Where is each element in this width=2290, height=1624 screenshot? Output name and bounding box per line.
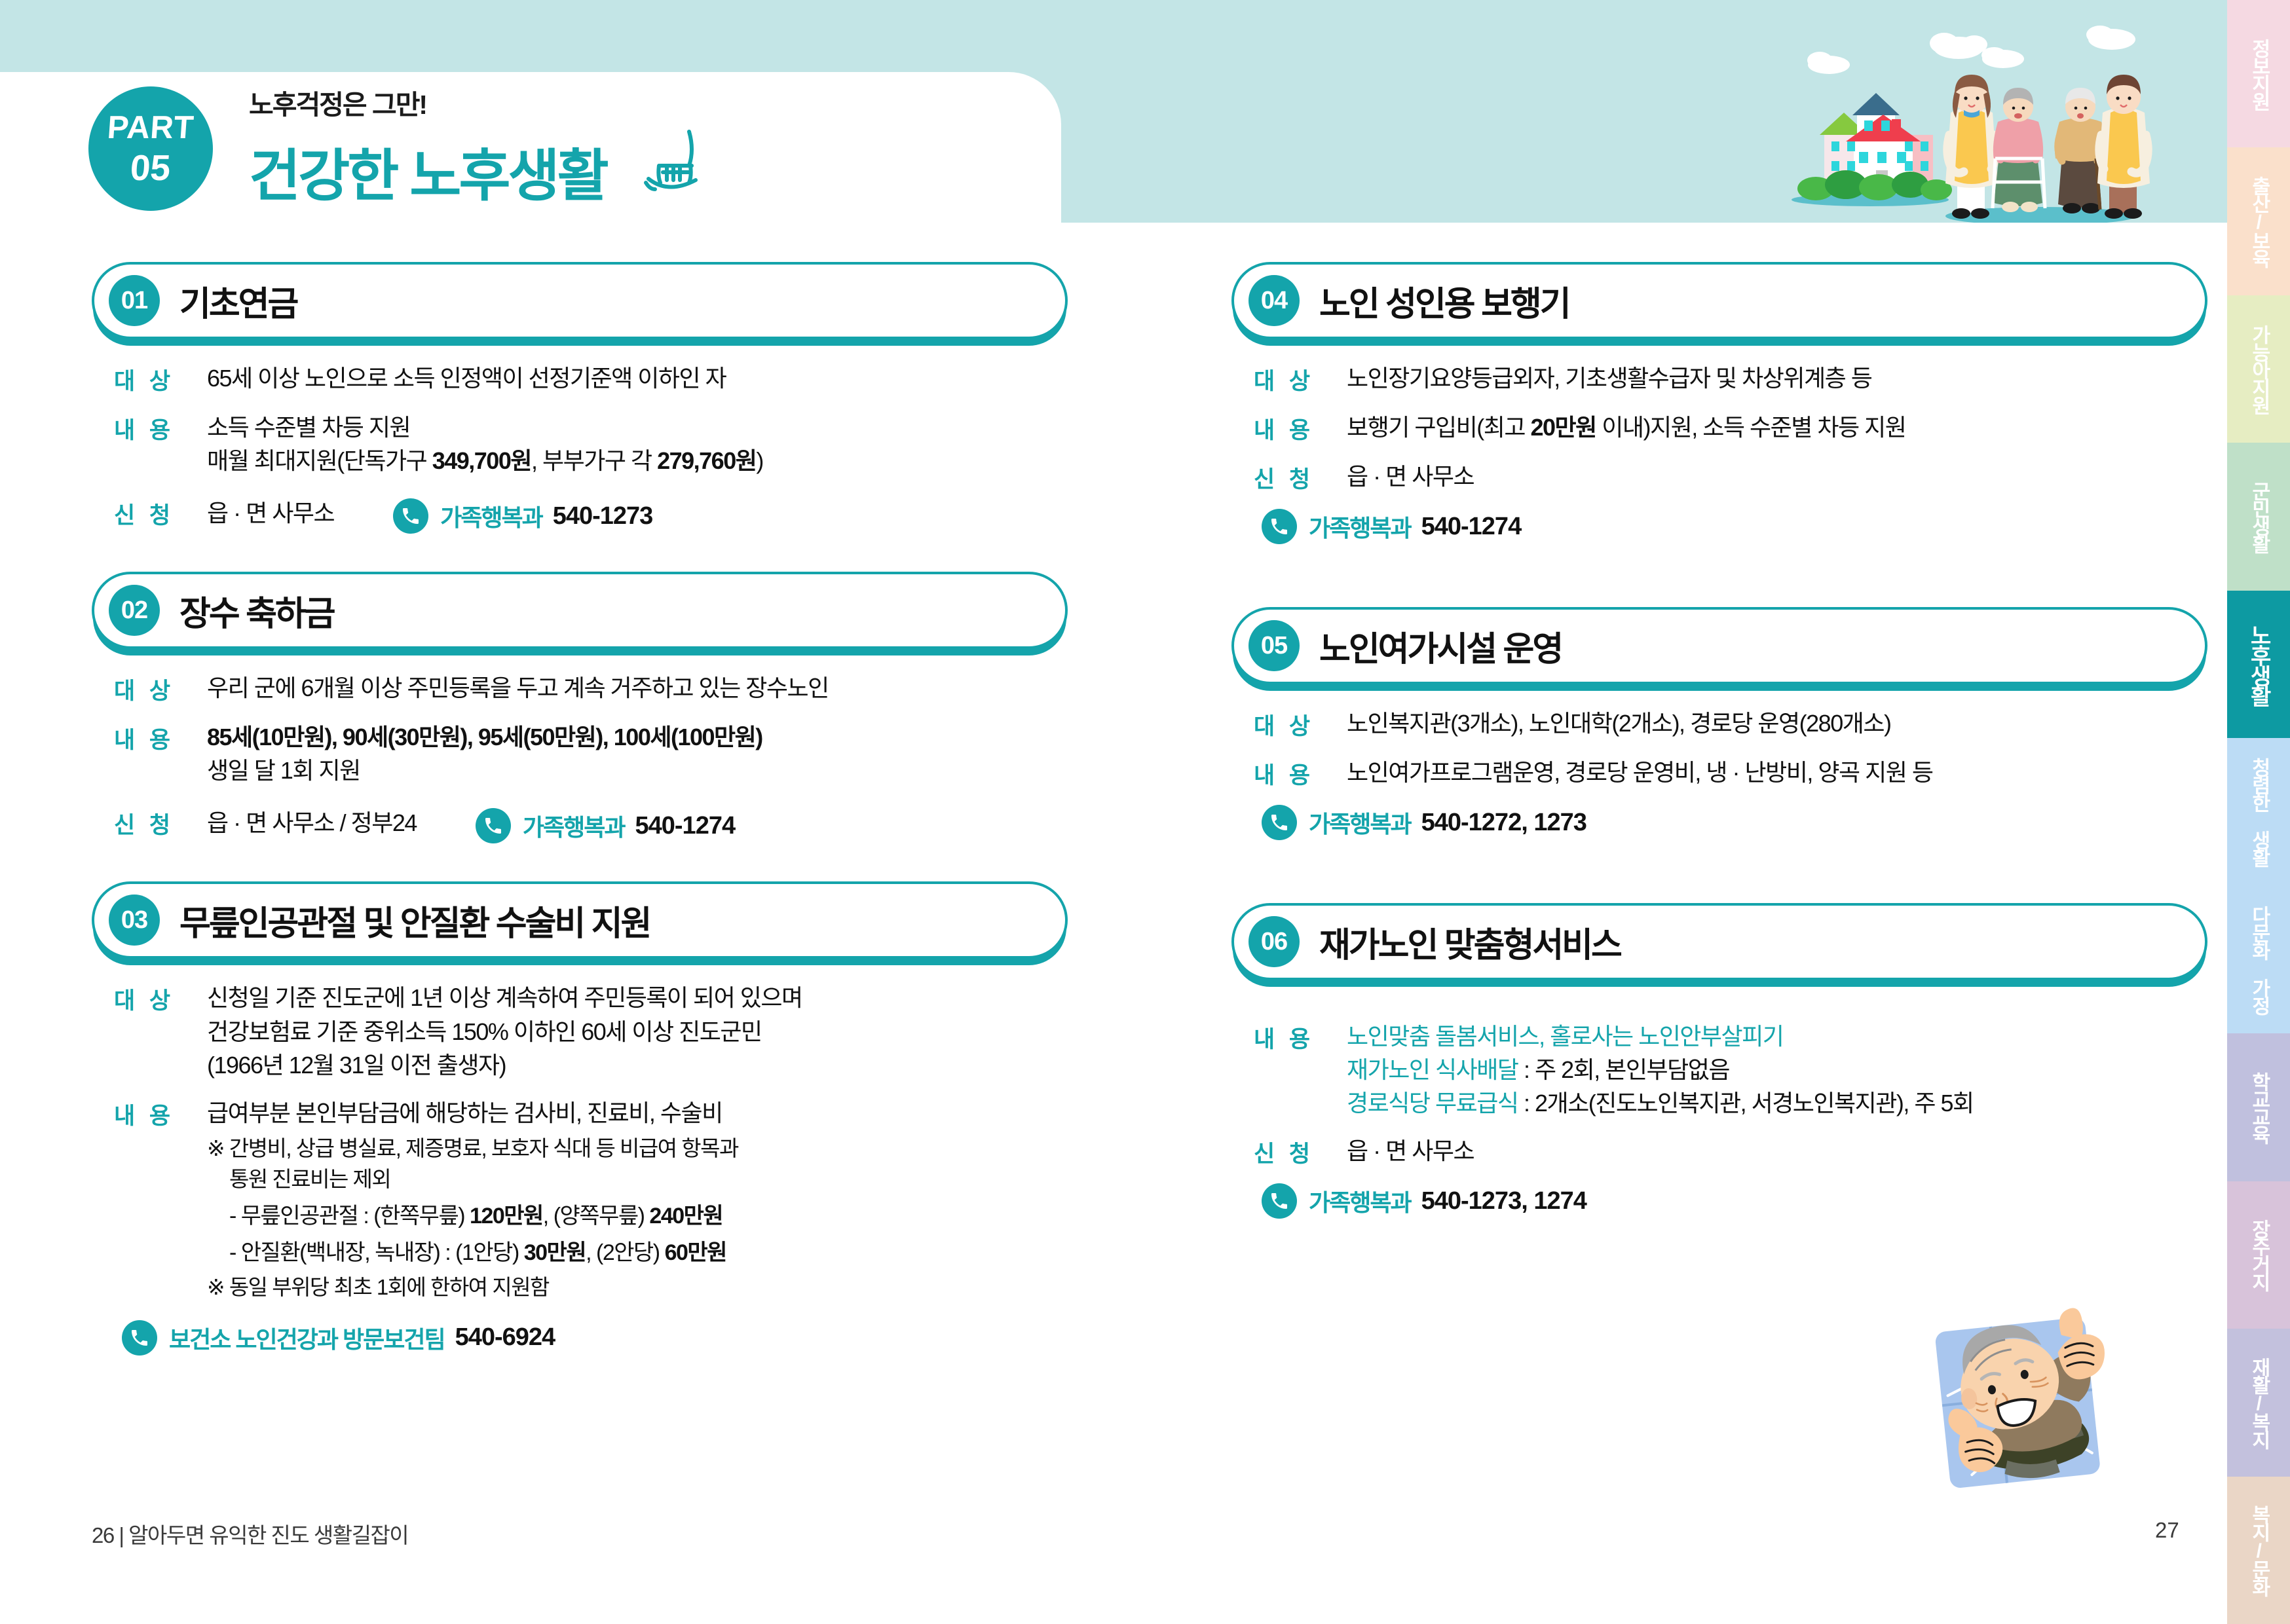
content-value: 노인여가프로그램운영, 경로당 운영비, 냉 · 난방비, 양곡 지원 등: [1347, 756, 2207, 789]
phone-dept: 가족행복과: [1309, 1184, 1411, 1218]
content-row: 내 용 85세(10만원), 90세(30만원), 95세(50만원), 100…: [114, 720, 1068, 787]
section-title: 노인여가시설 운영: [1319, 621, 1562, 671]
page-number-right: 27: [2155, 1518, 2179, 1543]
sidebar-tab-1[interactable]: 출산/보육: [2227, 147, 2290, 295]
section-05-header[interactable]: 05 노인여가시설 운영: [1231, 607, 2207, 684]
section-number: 05: [1248, 620, 1300, 671]
part-word: PART: [106, 112, 195, 144]
section-01: 01 기초연금 대 상 65세 이상 노인으로 소득 인정액이 선정기준액 이하…: [92, 262, 1068, 534]
content-row: 내 용 소득 수준별 차등 지원 매월 최대지원(단독가구 349,700원, …: [114, 411, 1068, 477]
phone-icon: [393, 498, 428, 534]
section-title: 무릎인공관절 및 안질환 수술비 지원: [179, 896, 650, 945]
content-note-1: ※ 간병비, 상급 병실료, 제증명료, 보호자 식대 등 비급여 항목과 통원…: [207, 1134, 1068, 1195]
sidebar-tab-2[interactable]: 가능아지원: [2227, 295, 2290, 443]
content-note-2: ※ 동일 부위당 최초 1회에 한하여 지원함: [207, 1272, 1068, 1303]
content-label: 내 용: [1254, 1020, 1347, 1054]
content-label: 내 용: [1254, 756, 1347, 790]
sidebar-tab-label: 군민생활: [2249, 481, 2268, 552]
target-value: 노인복지관(3개소), 노인대학(2개소), 경로당 운영(280개소): [1347, 707, 2207, 740]
section-05-body: 대 상 노인복지관(3개소), 노인대학(2개소), 경로당 운영(280개소)…: [1254, 707, 2207, 840]
rocking-chair-icon: [626, 128, 711, 203]
content-value: 보행기 구입비(최고 20만원 이내)지원, 소득 수준별 차등 지원: [1347, 411, 2207, 444]
phone-number: 540-6924: [455, 1323, 555, 1352]
part-badge: PART 05: [88, 86, 213, 211]
content-dash-2: - 안질환(백내장, 녹내장) : (1안당) 30만원, (2안당) 60만원: [207, 1237, 1068, 1268]
sidebar-tab-label: 학교교육: [2249, 1072, 2268, 1143]
target-label: 대 상: [114, 981, 207, 1016]
sidebar-tab-label: 출산/보육: [2249, 176, 2268, 267]
left-column: 01 기초연금 대 상 65세 이상 노인으로 소득 인정액이 선정기준액 이하…: [92, 262, 1068, 1356]
section-01-header[interactable]: 01 기초연금: [92, 262, 1068, 339]
phone-number: 540-1273: [553, 502, 653, 530]
content-row: 내 용 노인맞춤 돌봄서비스, 홀로사는 노인안부살피기 재가노인 식사배달 :…: [1254, 1020, 2207, 1120]
phone-line[interactable]: 가족행복과 540-1274: [476, 808, 735, 843]
phone-dept: 가족행복과: [1309, 805, 1411, 840]
content-row: 내 용 노인여가프로그램운영, 경로당 운영비, 냉 · 난방비, 양곡 지원 …: [1254, 756, 2207, 790]
hero-illustration: [1769, 13, 2227, 223]
apply-value: 읍 · 면 사무소: [207, 496, 334, 530]
section-01-body: 대 상 65세 이상 노인으로 소득 인정액이 선정기준액 이하인 자 내 용 …: [114, 361, 1068, 534]
content-dash-1: - 무릎인공관절 : (한쪽무릎) 120만원, (양쪽무릎) 240만원: [207, 1200, 1068, 1232]
sidebar-tabs: 정보지원 출산/보육 가능아지원 군민생활 노후생활 청렴한 생활 다문화 가정…: [2227, 0, 2290, 1624]
phone-icon: [1262, 805, 1297, 840]
sidebar-tab-label: 복지/문화: [2249, 1505, 2268, 1595]
sidebar-tab-label: 노후생활: [2248, 624, 2269, 705]
content-label: 내 용: [114, 1096, 207, 1131]
section-title: 장수 축하금: [179, 586, 334, 635]
section-number: 02: [109, 585, 160, 636]
target-row: 대 상 65세 이상 노인으로 소득 인정액이 선정기준액 이하인 자: [114, 361, 1068, 396]
right-column: 04 노인 성인용 보행기 대 상 노인장기요양등급외자, 기초생활수급자 및 …: [1231, 262, 2207, 1219]
phone-dept: 보건소 노인건강과 방문보건팀: [169, 1321, 445, 1355]
content-row: 내 용 급여부분 본인부담금에 해당하는 검사비, 진료비, 수술비 ※ 간병비…: [114, 1096, 1068, 1303]
apply-row: 신 청 읍 · 면 사무소: [1254, 1134, 2207, 1169]
section-number: 01: [109, 275, 160, 326]
section-04: 04 노인 성인용 보행기 대 상 노인장기요양등급외자, 기초생활수급자 및 …: [1231, 262, 2207, 544]
content-amount-line: 보행기 구입비(최고 20만원 이내)지원, 소득 수준별 차등 지원: [1347, 411, 2207, 444]
phone-line[interactable]: 보건소 노인건강과 방문보건팀 540-6924: [122, 1320, 1068, 1356]
target-row: 대 상 신청일 기준 진도군에 1년 이상 계속하여 주민등록이 되어 있으며 …: [114, 981, 1068, 1081]
sidebar-tab-5[interactable]: 청렴한 생활: [2227, 738, 2290, 885]
target-label: 대 상: [114, 671, 207, 706]
sidebar-tab-8[interactable]: 장주거지: [2227, 1181, 2290, 1329]
section-title: 노인 성인용 보행기: [1319, 276, 1569, 325]
target-row: 대 상 노인장기요양등급외자, 기초생활수급자 및 차상위계층 등: [1254, 361, 2207, 396]
apply-row: 신 청 읍 · 면 사무소 가족행복과 540-1273: [114, 492, 1068, 534]
section-06: 06 재가노인 맞춤형서비스 내 용 노인맞춤 돌봄서비스, 홀로사는 노인안부…: [1231, 903, 2207, 1219]
section-06-body: 내 용 노인맞춤 돌봄서비스, 홀로사는 노인안부살피기 재가노인 식사배달 :…: [1254, 1020, 2207, 1219]
phone-dept: 가족행복과: [440, 499, 542, 533]
phone-line[interactable]: 가족행복과 540-1274: [1262, 509, 2207, 544]
phone-icon: [1262, 1183, 1297, 1219]
content-line-2: 재가노인 식사배달 : 주 2회, 본인부담없음: [1347, 1053, 2207, 1086]
sidebar-tab-0[interactable]: 정보지원: [2227, 0, 2290, 147]
target-value: 노인장기요양등급외자, 기초생활수급자 및 차상위계층 등: [1347, 361, 2207, 395]
phone-dept: 가족행복과: [523, 809, 625, 843]
apply-label: 신 청: [114, 496, 207, 530]
content-value: 소득 수준별 차등 지원 매월 최대지원(단독가구 349,700원, 부부가구…: [207, 411, 1068, 477]
section-05: 05 노인여가시설 운영 대 상 노인복지관(3개소), 노인대학(2개소), …: [1231, 607, 2207, 840]
apply-value: 읍 · 면 사무소: [1347, 460, 2207, 493]
section-number: 04: [1248, 275, 1300, 326]
target-label: 대 상: [1254, 707, 1347, 741]
phone-line[interactable]: 가족행복과 540-1273, 1274: [1262, 1183, 2207, 1219]
phone-icon: [1262, 509, 1297, 544]
header-titles: 노후걱정은 그만! 건강한 노후생활: [249, 92, 711, 204]
content-amount-line: 매월 최대지원(단독가구 349,700원, 부부가구 각 279,760원): [207, 444, 1068, 477]
section-title: 기초연금: [179, 276, 297, 325]
section-04-body: 대 상 노인장기요양등급외자, 기초생활수급자 및 차상위계층 등 내 용 보행…: [1254, 361, 2207, 544]
target-value: 신청일 기준 진도군에 1년 이상 계속하여 주민등록이 되어 있으며 건강보험…: [207, 981, 1068, 1081]
section-04-header[interactable]: 04 노인 성인용 보행기: [1231, 262, 2207, 339]
page-title: 건강한 노후생활: [249, 148, 607, 204]
section-03-body: 대 상 신청일 기준 진도군에 1년 이상 계속하여 주민등록이 되어 있으며 …: [114, 981, 1068, 1356]
section-03-header[interactable]: 03 무릎인공관절 및 안질환 수술비 지원: [92, 881, 1068, 959]
content-label: 내 용: [1254, 411, 1347, 445]
sidebar-tab-9[interactable]: 재활/복지: [2227, 1329, 2290, 1476]
header-kicker: 노후걱정은 그만!: [249, 92, 711, 119]
target-row: 대 상 우리 군에 6개월 이상 주민등록을 두고 계속 거주하고 있는 장수노…: [114, 671, 1068, 706]
sidebar-tab-3[interactable]: 군민생활: [2227, 443, 2290, 590]
sidebar-tab-label: 재활/복지: [2249, 1357, 2268, 1448]
apply-value: 읍 · 면 사무소: [1347, 1134, 2207, 1168]
section-02: 02 장수 축하금 대 상 우리 군에 6개월 이상 주민등록을 두고 계속 거…: [92, 572, 1068, 843]
sidebar-tab-10[interactable]: 복지/문화: [2227, 1477, 2290, 1624]
content-value: 급여부분 본인부담금에 해당하는 검사비, 진료비, 수술비 ※ 간병비, 상급…: [207, 1096, 1068, 1303]
target-label: 대 상: [1254, 361, 1347, 396]
section-02-header[interactable]: 02 장수 축하금: [92, 572, 1068, 649]
phone-number: 540-1274: [635, 812, 736, 840]
phone-line[interactable]: 가족행복과 540-1272, 1273: [1262, 805, 2207, 840]
apply-label: 신 청: [114, 805, 207, 840]
section-number: 06: [1248, 916, 1300, 967]
content-value: 85세(10만원), 90세(30만원), 95세(50만원), 100세(10…: [207, 720, 1068, 787]
apply-value: 읍 · 면 사무소 / 정부24: [207, 806, 417, 840]
sidebar-tab-6[interactable]: 다문화 가정: [2227, 886, 2290, 1033]
section-02-body: 대 상 우리 군에 6개월 이상 주민등록을 두고 계속 거주하고 있는 장수노…: [114, 671, 1068, 843]
apply-row: 신 청 읍 · 면 사무소: [1254, 460, 2207, 494]
section-title: 재가노인 맞춤형서비스: [1319, 917, 1621, 967]
apply-row: 신 청 읍 · 면 사무소 / 정부24 가족행복과 540-1274: [114, 802, 1068, 843]
phone-line[interactable]: 가족행복과 540-1273: [393, 498, 652, 534]
sidebar-tab-label: 정보지원: [2249, 39, 2268, 109]
sidebar-tab-label: 가능아지원: [2249, 325, 2268, 413]
phone-dept: 가족행복과: [1309, 509, 1411, 544]
content-value: 노인맞춤 돌봄서비스, 홀로사는 노인안부살피기 재가노인 식사배달 : 주 2…: [1347, 1020, 2207, 1120]
phone-number: 540-1273, 1274: [1421, 1187, 1586, 1215]
apply-label: 신 청: [1254, 460, 1347, 494]
target-value: 65세 이상 노인으로 소득 인정액이 선정기준액 이하인 자: [207, 361, 1068, 395]
target-row: 대 상 노인복지관(3개소), 노인대학(2개소), 경로당 운영(280개소): [1254, 707, 2207, 741]
target-label: 대 상: [114, 361, 207, 396]
section-06-header[interactable]: 06 재가노인 맞춤형서비스: [1231, 903, 2207, 980]
sidebar-tab-label: 장주거지: [2249, 1219, 2268, 1290]
content-row: 내 용 보행기 구입비(최고 20만원 이내)지원, 소득 수준별 차등 지원: [1254, 411, 2207, 445]
target-value: 우리 군에 6개월 이상 주민등록을 두고 계속 거주하고 있는 장수노인: [207, 671, 1068, 705]
footer-left: 26 | 알아두면 유익한 진도 생활길잡이: [92, 1518, 408, 1549]
phone-icon: [476, 808, 511, 843]
part-number: 05: [129, 150, 172, 186]
phone-icon: [122, 1320, 157, 1356]
content-line-3: 경로식당 무료급식 : 2개소(진도노인복지관, 서경노인복지관), 주 5회: [1347, 1086, 2207, 1120]
grandpa-thumbs-up-illustration: [1900, 1257, 2162, 1506]
section-03: 03 무릎인공관절 및 안질환 수술비 지원 대 상 신청일 기준 진도군에 1…: [92, 881, 1068, 1356]
apply-label: 신 청: [1254, 1134, 1347, 1169]
phone-number: 540-1274: [1421, 513, 1522, 541]
section-number: 03: [109, 895, 160, 946]
sidebar-tab-label: 다문화 가정: [2249, 906, 2268, 1014]
content-label: 내 용: [114, 411, 207, 445]
phone-number: 540-1272, 1273: [1421, 809, 1586, 837]
content-label: 내 용: [114, 720, 207, 755]
sidebar-tab-4-active[interactable]: 노후생활: [2227, 591, 2290, 738]
sidebar-tab-7[interactable]: 학교교육: [2227, 1033, 2290, 1181]
sidebar-tab-label: 청렴한 생활: [2249, 758, 2268, 866]
